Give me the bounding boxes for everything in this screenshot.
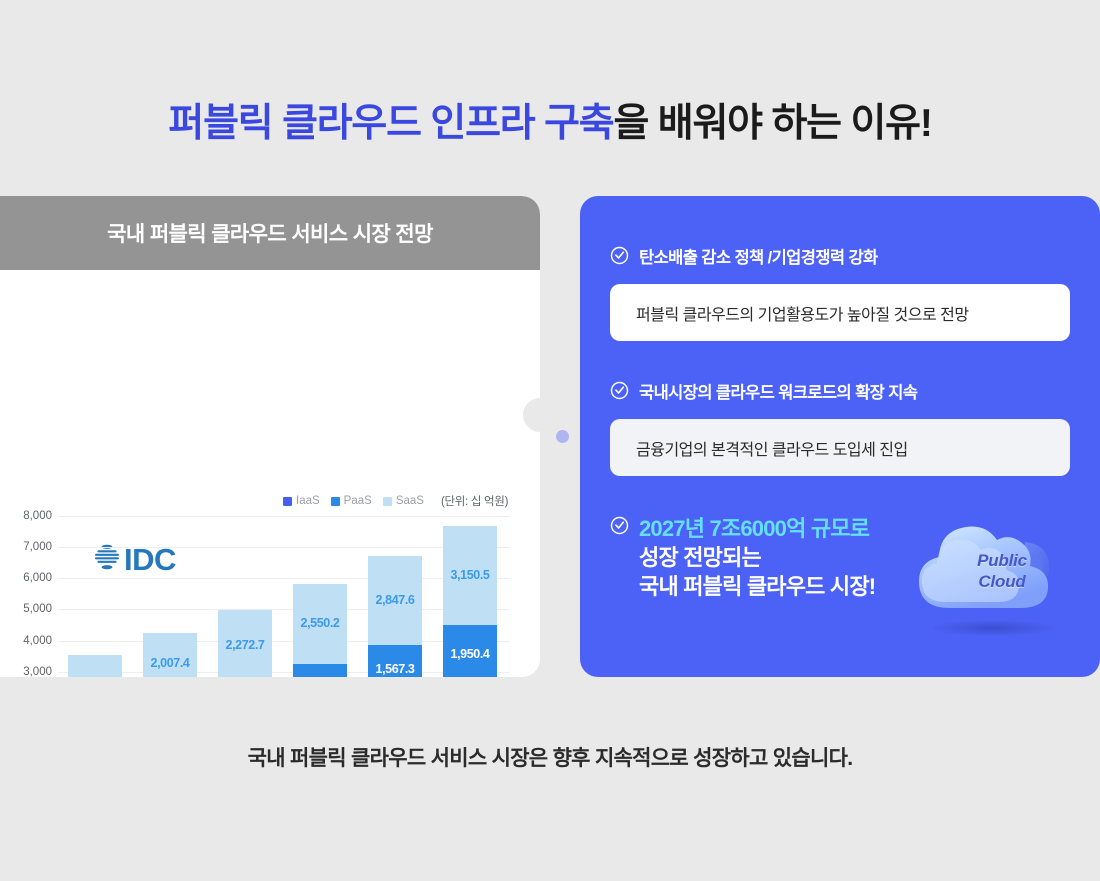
page-title-accent: 퍼블릭 클라우드 인프라 구축: [168, 102, 613, 145]
bar-value-label: 1,950.4: [443, 647, 497, 661]
chart-bar[interactable]: 2,563.21,950.43,150.5: [443, 526, 497, 677]
bar-value-label: 1,745.6: [68, 675, 122, 677]
public-cloud-3d-icon: Public Cloud: [895, 504, 1085, 639]
info-item-2-body: 금융기업의 본격적인 클라우드 도입세 진입: [610, 419, 1070, 476]
chart-card-header: 국내 퍼블릭 클라우드 서비스 시장 전망: [0, 196, 540, 270]
info-highlight-line3: 국내 퍼블릭 클라우드 시장!: [639, 572, 875, 601]
chart-title: 국내 퍼블릭 클라우드 서비스 시장 전망: [107, 218, 433, 248]
chart-bar[interactable]: 1,795.7920.12,272.7: [218, 610, 272, 677]
divider-dot: [556, 430, 569, 443]
y-axis-tick-label: 4,000: [23, 635, 52, 647]
bar-value-label: 1,567.3: [368, 662, 422, 676]
bar-segment-saas[interactable]: 2,007.4: [143, 633, 197, 677]
info-item-2: 국내시장의 클라우드 워크로드의 확장 지속 금융기업의 본격적인 클라우드 도…: [610, 379, 1070, 476]
chart-plot-area: 01,0002,0003,0004,0005,0006,0007,0008,00…: [0, 516, 540, 677]
y-axis-tick-label: 3,000: [23, 666, 52, 677]
legend-label-saas: SaaS: [396, 495, 424, 507]
page-title-rest: 을 배워야 하는 이유!: [613, 102, 931, 145]
legend-item-iaas: IaaS: [283, 495, 320, 507]
chart-card: 국내 퍼블릭 클라우드 서비스 시장 전망 IaaS PaaS SaaS (단위…: [0, 196, 540, 677]
bar-segment-paas[interactable]: 1,950.4: [443, 625, 497, 677]
legend-label-iaas: IaaS: [296, 495, 320, 507]
legend-swatch-saas: [383, 497, 392, 506]
bar-segment-saas[interactable]: 2,550.2: [293, 584, 347, 663]
bar-value-label: 2,847.6: [368, 593, 422, 607]
info-highlight-line1: 2027년 7조6000억 규모로: [639, 514, 875, 543]
info-item-2-heading: 국내시장의 클라우드 워크로드의 확장 지속: [639, 379, 917, 403]
bar-value-label: 2,007.4: [143, 656, 197, 670]
info-item-1-heading: 탄소배출 감소 정책 /기업경쟁력 강화: [639, 244, 878, 268]
bar-value-label: 2,272.7: [218, 638, 272, 652]
legend-swatch-paas: [331, 497, 340, 506]
info-highlight-line2: 성장 전망되는: [639, 543, 875, 572]
chart-bar[interactable]: 2,037.21,222.52,550.2: [293, 584, 347, 677]
legend-label-paas: PaaS: [344, 495, 372, 507]
y-axis-tick-label: 8,000: [23, 510, 52, 522]
info-item-1: 탄소배출 감소 정책 /기업경쟁력 강화 퍼블릭 클라우드의 기업활용도가 높아…: [610, 244, 1070, 341]
info-item-3: 2027년 7조6000억 규모로 성장 전망되는 국내 퍼블릭 클라우드 시장…: [610, 514, 875, 601]
bar-segment-saas[interactable]: 1,745.6: [68, 655, 122, 677]
legend-item-saas: SaaS: [383, 495, 424, 507]
bar-value-label: 1,222.5: [293, 675, 347, 677]
cloud-label-line1: Public: [977, 551, 1027, 570]
y-axis-tick-label: 6,000: [23, 572, 52, 584]
bar-value-label: 3,150.5: [443, 568, 497, 582]
info-highlight-text: 2027년 7조6000억 규모로 성장 전망되는 국내 퍼블릭 클라우드 시장…: [639, 514, 875, 601]
cloud-label: Public Cloud: [947, 550, 1057, 593]
check-circle-icon: [610, 381, 629, 405]
chart-unit-note: (단위: 십 억원): [441, 493, 508, 509]
chart-bar[interactable]: 1,297.9478.51,745.6: [68, 655, 122, 677]
y-axis-tick-label: 7,000: [23, 541, 52, 553]
chart-bars: 1,297.9478.51,745.61,567.0680.52,007.41,…: [58, 516, 510, 677]
y-axis-tick-label: 5,000: [23, 603, 52, 615]
footer-caption: 국내 퍼블릭 클라우드 서비스 시장은 향후 지속적으로 성장하고 있습니다.: [0, 742, 1100, 772]
bar-segment-saas[interactable]: 2,272.7: [218, 610, 272, 677]
info-item-1-header: 탄소배출 감소 정책 /기업경쟁력 강화: [610, 244, 1070, 270]
check-circle-icon: [610, 516, 629, 540]
page-root: 퍼블릭 클라우드 인프라 구축을 배워야 하는 이유! 국내 퍼블릭 클라우드 …: [0, 0, 1100, 881]
bar-segment-saas[interactable]: 3,150.5: [443, 526, 497, 624]
bar-segment-paas[interactable]: 1,222.5: [293, 664, 347, 677]
bar-segment-saas[interactable]: 2,847.6: [368, 556, 422, 645]
chart-legend: IaaS PaaS SaaS (단위: 십 억원): [283, 493, 508, 509]
bar-segment-paas[interactable]: 1,567.3: [368, 645, 422, 677]
info-panel: 탄소배출 감소 정책 /기업경쟁력 강화 퍼블릭 클라우드의 기업활용도가 높아…: [580, 196, 1100, 677]
legend-item-paas: PaaS: [331, 495, 372, 507]
cloud-label-line2: Cloud: [978, 572, 1025, 591]
info-item-3-header: 2027년 7조6000억 규모로 성장 전망되는 국내 퍼블릭 클라우드 시장…: [610, 514, 875, 601]
info-item-1-body: 퍼블릭 클라우드의 기업활용도가 높아질 것으로 전망: [610, 284, 1070, 341]
chart-bar[interactable]: 1,567.0680.52,007.4: [143, 633, 197, 677]
chart-bar[interactable]: 2,290.41,567.32,847.6: [368, 556, 422, 677]
bar-value-label: 2,550.2: [293, 616, 347, 630]
y-axis: 01,0002,0003,0004,0005,0006,0007,0008,00…: [0, 516, 56, 677]
info-item-2-header: 국내시장의 클라우드 워크로드의 확장 지속: [610, 379, 1070, 405]
check-circle-icon: [610, 246, 629, 270]
card-notch: [523, 398, 540, 432]
legend-swatch-iaas: [283, 497, 292, 506]
page-title: 퍼블릭 클라우드 인프라 구축을 배워야 하는 이유!: [0, 92, 1100, 148]
